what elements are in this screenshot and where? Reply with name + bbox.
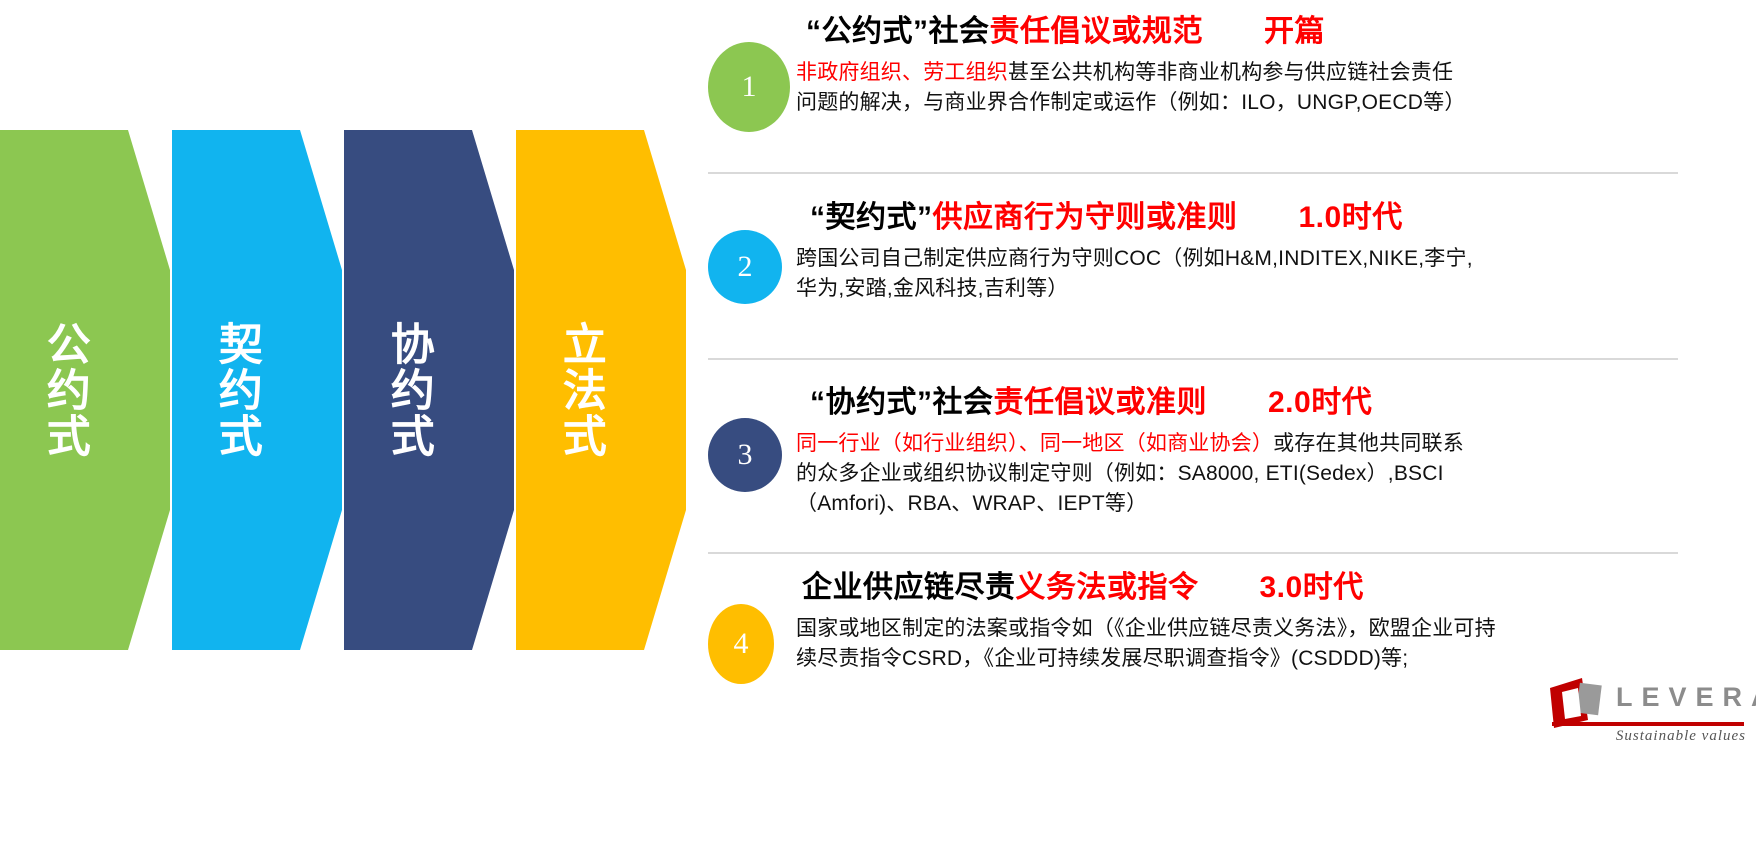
stage-arrow-shape	[344, 130, 514, 650]
logo-rule	[1552, 722, 1744, 726]
row-number-badge: 1	[708, 42, 790, 132]
stage-arrow-4[interactable]: 立法式	[516, 130, 686, 650]
row-number-badge: 4	[708, 604, 774, 684]
row-number-badge: 2	[708, 230, 782, 304]
row-divider	[708, 358, 1678, 360]
stage-arrow-shape	[172, 130, 342, 650]
row-title-lead: 企业供应链尽责	[802, 571, 1016, 604]
row-divider	[708, 172, 1678, 174]
row-title-gap	[1238, 201, 1299, 234]
row-title-highlight: 责任倡议或规范	[990, 15, 1204, 48]
row-title: 企业供应链尽责义务法或指令 3.0时代	[796, 570, 1756, 606]
row-description: 同一行业（如行业组织）、同一地区（如商业协会）或存在其他共同联系 的众多企业或组…	[796, 429, 1756, 518]
row-description: 国家或地区制定的法案或指令如（《企业供应链尽责义务法》，欧盟企业可持 续尽责指令…	[796, 614, 1756, 674]
logo-tagline: Sustainable values	[1614, 728, 1746, 745]
stage-arrow-1[interactable]: 公约式	[0, 130, 170, 650]
row-title-lead: “公约式”社会	[806, 15, 990, 48]
stage-arrow-3[interactable]: 协约式	[344, 130, 514, 650]
row-title-highlight: 义务法或指令	[1016, 571, 1199, 604]
row-title-gap	[1199, 571, 1260, 604]
stage-arrow-shape	[516, 130, 686, 650]
row-title: “公约式”社会责任倡议或规范 开篇	[796, 14, 1756, 50]
row-title: “协约式”社会责任倡议或准则 2.0时代	[796, 385, 1756, 421]
row-description: 非政府组织、劳工组织甚至公共机构等非商业机构参与供应链社会责任 问题的解决，与商…	[796, 58, 1756, 118]
row-title-era: 开篇	[1264, 15, 1325, 48]
row-description-emphasis: 同一行业（如行业组织）、同一地区（如商业协会）	[796, 432, 1273, 455]
stage-arrow-group: 公约式契约式协约式立法式	[0, 130, 700, 650]
logo-wordmark: LEVERAGE	[1616, 682, 1756, 713]
row-divider	[708, 552, 1678, 554]
row-title-lead: “协约式”社会	[810, 386, 994, 419]
row-title-era: 3.0时代	[1260, 571, 1364, 604]
row-title-lead: “契约式”	[810, 201, 933, 234]
row-description: 跨国公司自己制定供应商行为守则COC（例如H&M,INDITEX,NIKE,李宁…	[796, 244, 1756, 304]
row-title-gap	[1203, 15, 1264, 48]
row-title-highlight: 责任倡议或准则	[994, 386, 1208, 419]
leverage-logo: LEVERAGE Sustainable values	[1548, 676, 1748, 756]
row-number-badge: 3	[708, 418, 782, 492]
row-description-emphasis: 非政府组织、劳工组织	[796, 61, 1008, 84]
stage-arrow-shape	[0, 130, 170, 650]
timeline-rows: 1“公约式”社会责任倡议或规范 开篇非政府组织、劳工组织甚至公共机构等非商业机构…	[700, 0, 1756, 790]
row-title-era: 1.0时代	[1299, 201, 1403, 234]
stage-arrow-2[interactable]: 契约式	[172, 130, 342, 650]
row-description-rest: 国家或地区制定的法案或指令如（《企业供应链尽责义务法》，欧盟企业可持 续尽责指令…	[796, 617, 1496, 670]
row-title-highlight: 供应商行为守则或准则	[933, 201, 1238, 234]
row-title: “契约式”供应商行为守则或准则 1.0时代	[796, 200, 1756, 236]
row-description-rest: 跨国公司自己制定供应商行为守则COC（例如H&M,INDITEX,NIKE,李宁…	[796, 247, 1473, 300]
row-title-gap	[1207, 386, 1268, 419]
row-title-era: 2.0时代	[1268, 386, 1372, 419]
